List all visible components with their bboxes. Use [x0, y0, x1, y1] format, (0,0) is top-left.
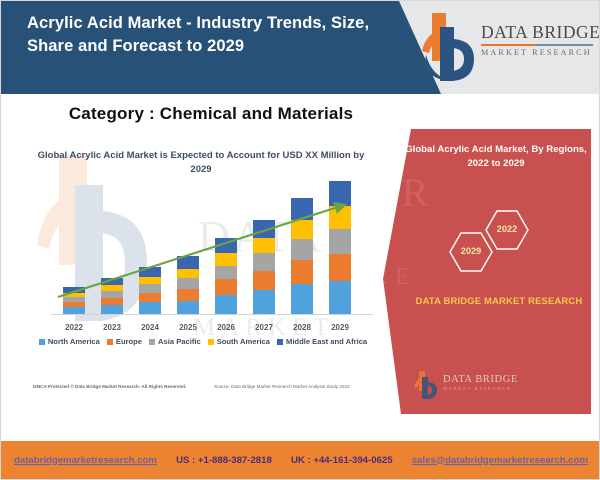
bar-segment-south-america: [291, 220, 313, 239]
page-header: Acrylic Acid Market - Industry Trends, S…: [1, 1, 600, 94]
regions-panel-title: Global Acrylic Acid Market, By Regions, …: [405, 143, 587, 171]
bar-segment-middle-east-and-africa: [291, 198, 313, 220]
page-title: Acrylic Acid Market - Industry Trends, S…: [27, 12, 377, 58]
page-footer: databridgemarketresearch.com US : +1-888…: [1, 441, 600, 479]
bar-segment-europe: [291, 260, 313, 284]
infographic-page: Acrylic Acid Market - Industry Trends, S…: [0, 0, 600, 480]
bar-2023: [101, 278, 123, 315]
bar-segment-north-america: [139, 302, 161, 314]
chart-plot-area: 20222023202420252026202720282029: [41, 189, 371, 335]
x-axis-label-2023: 2023: [92, 323, 132, 332]
legend-swatch-icon: [208, 339, 214, 345]
chart-legend: North AmericaEuropeAsia PacificSouth Ame…: [29, 337, 377, 346]
regions-logo-sub-text: MARKET RESEARCH: [443, 386, 518, 391]
bar-segment-asia-pacific: [101, 291, 123, 298]
bar-segment-north-america: [253, 290, 275, 314]
bar-segment-north-america: [329, 281, 351, 314]
bar-2028: [291, 198, 313, 314]
hexagon-2022-label: 2022: [483, 224, 531, 234]
legend-label: Europe: [116, 337, 142, 346]
bar-2027: [253, 220, 275, 314]
x-axis-label-2024: 2024: [130, 323, 170, 332]
dmca-notice: DMCA Protected © Data Bridge Market Rese…: [33, 384, 186, 389]
data-bridge-logo-icon: [413, 370, 439, 400]
regions-panel-brand: DATA BRIDGE MARKET RESEARCH: [411, 294, 587, 308]
bar-segment-europe: [177, 289, 199, 301]
bar-2022: [63, 287, 85, 314]
hexagon-group: 2022 2029: [441, 209, 571, 289]
x-axis-label-2022: 2022: [54, 323, 94, 332]
footer-email-link[interactable]: sales@databridgemarketresearch.com: [412, 455, 588, 466]
x-axis-label-2027: 2027: [244, 323, 284, 332]
chart-caption: Global Acrylic Acid Market is Expected t…: [31, 149, 371, 177]
legend-label: South America: [217, 337, 270, 346]
footer-website-link[interactable]: databridgemarketresearch.com: [14, 455, 157, 466]
bar-segment-north-america: [291, 284, 313, 314]
logo-sub-text: MARKET RESEARCH: [481, 48, 593, 57]
bar-segment-middle-east-and-africa: [329, 181, 351, 206]
bar-segment-asia-pacific: [139, 284, 161, 293]
bar-2024: [139, 267, 161, 314]
bar-segment-south-america: [139, 277, 161, 285]
bar-segment-middle-east-and-africa: [253, 220, 275, 238]
bar-segment-asia-pacific: [291, 239, 313, 260]
legend-item-asia-pacific[interactable]: Asia Pacific: [149, 337, 201, 346]
bar-segment-south-america: [253, 238, 275, 253]
bar-2026: [215, 238, 237, 314]
bar-segment-europe: [101, 298, 123, 306]
logo-divider: [481, 44, 593, 46]
data-bridge-logo-icon: [420, 11, 478, 85]
legend-swatch-icon: [149, 339, 155, 345]
bar-segment-south-america: [329, 206, 351, 229]
legend-label: North America: [48, 337, 100, 346]
legend-item-south-america[interactable]: South America: [208, 337, 270, 346]
legend-swatch-icon: [39, 339, 45, 345]
legend-item-middle-east-and-africa[interactable]: Middle East and Africa: [277, 337, 367, 346]
chart-x-axis: [51, 314, 373, 315]
logo-wordmark: DATA BRIDGE MARKET RESEARCH: [481, 22, 593, 57]
legend-swatch-icon: [277, 339, 283, 345]
x-axis-label-2026: 2026: [206, 323, 246, 332]
legend-swatch-icon: [107, 339, 113, 345]
source-notice: Source: Data Bridge Market Research Mark…: [214, 384, 350, 389]
bar-segment-north-america: [63, 307, 85, 314]
regions-logo-main-text: DATA BRIDGE: [443, 374, 518, 386]
x-axis-label-2028: 2028: [282, 323, 322, 332]
logo-main-text: DATA BRIDGE: [481, 22, 593, 42]
bar-segment-north-america: [215, 295, 237, 314]
x-axis-label-2029: 2029: [320, 323, 360, 332]
footer-uk-phone[interactable]: UK : +44-161-394-0625: [291, 455, 393, 466]
bar-segment-middle-east-and-africa: [101, 278, 123, 286]
bar-segment-europe: [139, 293, 161, 303]
x-axis-label-2025: 2025: [168, 323, 208, 332]
bar-segment-middle-east-and-africa: [215, 238, 237, 253]
hexagon-2029-label: 2029: [447, 246, 495, 256]
footer-us-phone[interactable]: US : +1-888-387-2818: [176, 455, 272, 466]
category-heading: Category : Chemical and Materials: [1, 104, 421, 124]
bar-segment-asia-pacific: [329, 229, 351, 254]
bar-2029: [329, 181, 351, 314]
legend-item-europe[interactable]: Europe: [107, 337, 142, 346]
bar-segment-middle-east-and-africa: [177, 256, 199, 269]
legend-label: Asia Pacific: [158, 337, 201, 346]
regions-logo-wordmark: DATA BRIDGE MARKET RESEARCH: [443, 374, 518, 391]
regions-panel-logo: DATA BRIDGE MARKET RESEARCH: [413, 369, 533, 401]
brand-logo: DATA BRIDGE MARKET RESEARCH: [418, 9, 593, 87]
bar-segment-europe: [329, 254, 351, 281]
bar-segment-middle-east-and-africa: [139, 267, 161, 277]
regions-panel: BR RE Global Acrylic Acid Market, By Reg…: [383, 129, 591, 414]
bar-segment-asia-pacific: [253, 253, 275, 270]
bar-segment-asia-pacific: [177, 278, 199, 289]
legend-item-north-america[interactable]: North America: [39, 337, 100, 346]
bar-segment-south-america: [215, 253, 237, 266]
bar-chart: 20222023202420252026202720282029 North A…: [29, 189, 377, 356]
bar-2025: [177, 256, 199, 314]
bar-segment-north-america: [101, 305, 123, 314]
bar-segment-asia-pacific: [215, 266, 237, 279]
bar-segment-north-america: [177, 301, 199, 314]
bar-segment-south-america: [177, 269, 199, 279]
bar-segment-europe: [215, 279, 237, 294]
bar-segment-europe: [253, 271, 275, 290]
legend-label: Middle East and Africa: [286, 337, 367, 346]
